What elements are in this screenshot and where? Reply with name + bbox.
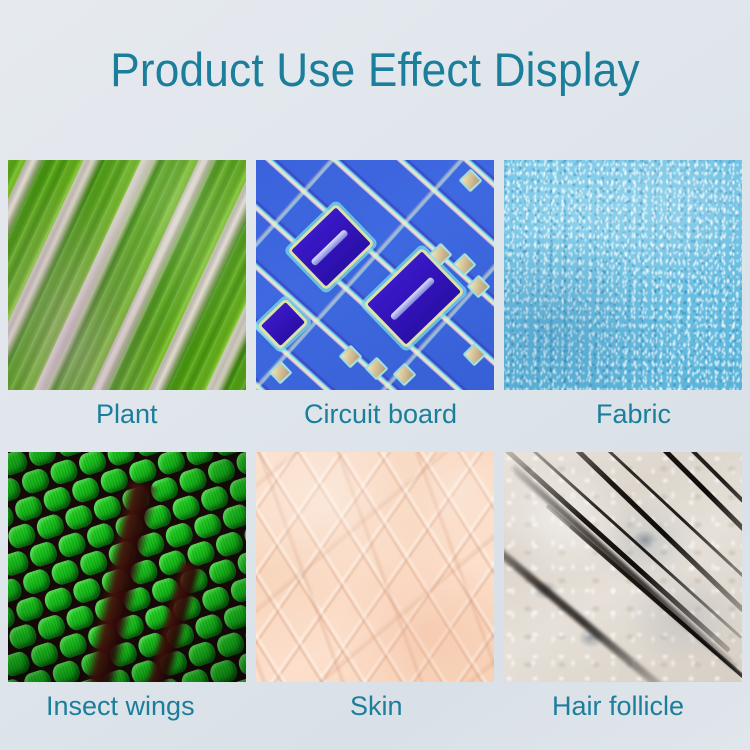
circuit-pad-slot	[310, 229, 349, 267]
gallery-row-1: Plant	[8, 160, 742, 452]
page-title: Product Use Effect Display	[23, 44, 728, 96]
gallery-item-hair-follicle[interactable]	[504, 452, 742, 682]
product-use-effect-display-page: Product Use Effect Display Plant	[0, 0, 750, 750]
gallery-item-circuit-board[interactable]	[256, 160, 494, 390]
gallery-item-label-fabric: Fabric	[596, 398, 671, 430]
gallery-item-plant[interactable]	[8, 160, 246, 390]
hair-follicle-sample-image[interactable]	[504, 452, 742, 682]
gallery-item-insect-wings[interactable]	[8, 452, 246, 682]
circuit-trace-cross-pattern-icon	[256, 160, 494, 390]
gallery-item-label-plant: Plant	[96, 398, 158, 430]
circuit-board-sample-image[interactable]	[256, 160, 494, 390]
fabric-shading-overlay	[504, 160, 742, 390]
gallery-item-label-skin: Skin	[350, 690, 403, 722]
skin-sheen-overlay	[256, 452, 494, 682]
skin-sample-image[interactable]	[256, 452, 494, 682]
gallery-item-skin[interactable]	[256, 452, 494, 682]
gallery-item-label-circuit-board: Circuit board	[304, 398, 457, 430]
gallery-item-fabric[interactable]	[504, 160, 742, 390]
circuit-pad-slot	[389, 276, 436, 322]
plant-sample-image[interactable]	[8, 160, 246, 390]
wing-vignette-overlay	[8, 452, 246, 682]
gallery-item-label-hair-follicle: Hair follicle	[552, 690, 684, 722]
sample-gallery-grid: Plant	[8, 160, 742, 744]
fabric-sample-image[interactable]	[504, 160, 742, 390]
gallery-row-2: Insect wings Skin	[8, 452, 742, 744]
insect-wings-sample-image[interactable]	[8, 452, 246, 682]
gallery-item-label-insect-wings: Insect wings	[46, 690, 195, 722]
